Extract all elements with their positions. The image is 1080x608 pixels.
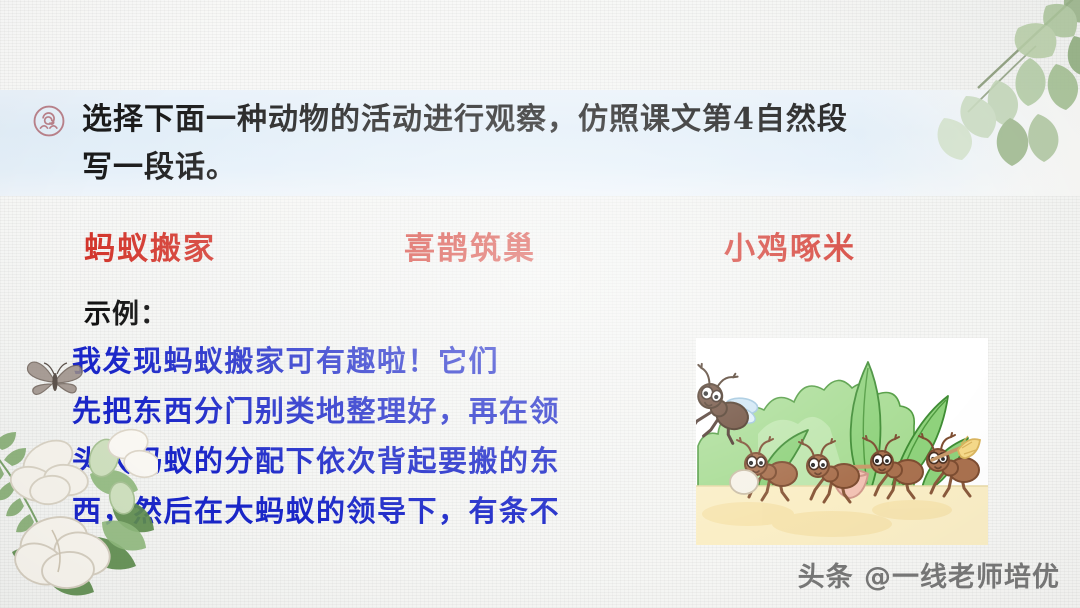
ants-moving-house-illustration	[696, 338, 988, 545]
example-label: 示例：	[84, 292, 168, 331]
slide-canvas: 选择下面一种动物的活动进行观察，仿照课文第4自然段 写一段话。 蚂蚁搬家 喜鹊筑…	[0, 0, 1080, 608]
instruction-text: 选择下面一种动物的活动进行观察，仿照课文第4自然段 写一段话。	[82, 96, 962, 192]
topic-option-magpie[interactable]: 喜鹊筑巢	[404, 223, 724, 268]
instruction-block: 选择下面一种动物的活动进行观察，仿照课文第4自然段 写一段话。	[32, 96, 962, 192]
watermark-text: 头条 @一线老师培优	[798, 555, 1060, 594]
topic-option-chick[interactable]: 小鸡啄米	[724, 223, 984, 268]
seal-ornament-icon	[32, 104, 66, 138]
example-paragraph: 我发现蚂蚁搬家可有趣啦！它们 先把东西分门别类地整理好，再在领 头大蚂蚁的分配下…	[72, 336, 632, 536]
topic-option-ants[interactable]: 蚂蚁搬家	[84, 223, 404, 268]
topic-options-row: 蚂蚁搬家 喜鹊筑巢 小鸡啄米	[84, 223, 984, 268]
